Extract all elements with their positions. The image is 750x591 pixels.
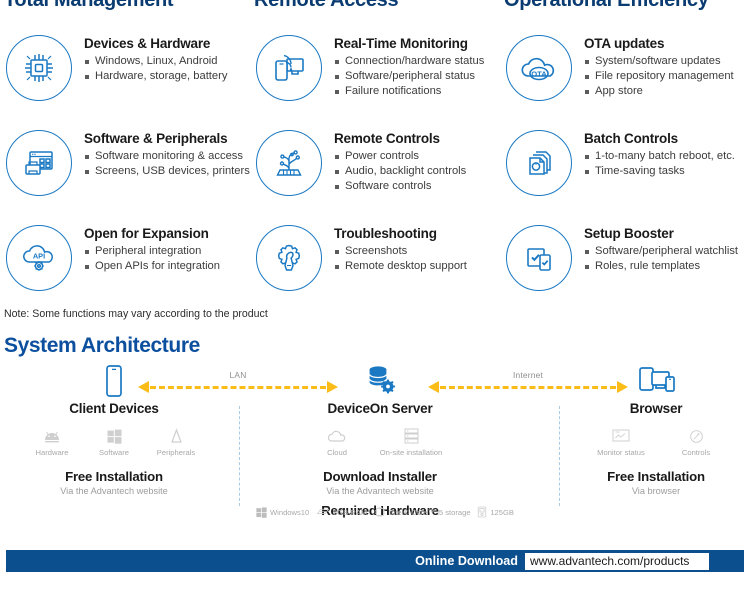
node-label: Browser bbox=[562, 401, 750, 416]
troubleshooting-gear-wrench-icon bbox=[256, 225, 322, 291]
browser-install-block: Free Installation Via browser bbox=[562, 469, 750, 496]
subicon-software: Software bbox=[83, 427, 145, 457]
block-subtitle: Via the Advantech website bbox=[275, 486, 485, 496]
node-client-devices: Client Devices Hardware bbox=[14, 362, 214, 496]
feature-bullet: System/software updates bbox=[584, 54, 734, 69]
real-time-monitoring-icon bbox=[256, 35, 322, 101]
subicon-controls: Controls bbox=[661, 427, 731, 457]
controls-icon bbox=[661, 427, 731, 445]
feature-card-setup-booster: Setup Booster Software/peripheral watchl… bbox=[500, 222, 750, 317]
feature-title: Software & Peripherals bbox=[84, 131, 250, 146]
feature-card-devices-hardware: Devices & Hardware Windows, Linux, Andro… bbox=[0, 32, 250, 127]
feature-title: Batch Controls bbox=[584, 131, 735, 146]
feature-bullets: Connection/hardware status Software/peri… bbox=[334, 54, 484, 99]
feature-title: Open for Expansion bbox=[84, 226, 220, 241]
feature-bullet: Software monitoring & access bbox=[84, 149, 250, 164]
block-subtitle: Via browser bbox=[562, 486, 750, 496]
feature-bullets: 1-to-many batch reboot, etc. Time-saving… bbox=[584, 149, 735, 179]
hardware-label: 125GB bbox=[490, 508, 514, 517]
monitor-status-icon bbox=[581, 427, 661, 445]
column-divider-left bbox=[239, 406, 240, 506]
hardware-label: Windows10 bbox=[270, 508, 309, 517]
feature-bullet: Hardware, storage, battery bbox=[84, 69, 227, 84]
feature-title: OTA updates bbox=[584, 36, 734, 51]
software-peripherals-icon bbox=[6, 130, 72, 196]
multi-device-icon bbox=[562, 362, 750, 398]
peripherals-icon bbox=[145, 427, 207, 445]
android-icon bbox=[21, 427, 83, 445]
column-heading-total-management: Total Management bbox=[4, 0, 173, 12]
batch-controls-stack-icon bbox=[506, 130, 572, 196]
feature-title: Devices & Hardware bbox=[84, 36, 227, 51]
subicon-monitor-status: Monitor status bbox=[581, 427, 661, 457]
server-subicons: Cloud On-site installation bbox=[275, 427, 485, 457]
feature-title: Setup Booster bbox=[584, 226, 738, 241]
subicon-peripherals: Peripherals bbox=[145, 427, 207, 457]
feature-bullet: Audio, backlight controls bbox=[334, 164, 466, 179]
feature-title: Troubleshooting bbox=[334, 226, 467, 241]
chip-icon bbox=[6, 35, 72, 101]
system-architecture-title: System Architecture bbox=[4, 334, 200, 358]
subicon-label: Peripherals bbox=[145, 448, 207, 457]
column-divider-right bbox=[559, 406, 560, 506]
storage-icon bbox=[477, 506, 487, 518]
api-cloud-gear-icon: API bbox=[6, 225, 72, 291]
block-subtitle: Via the Advantech website bbox=[14, 486, 214, 496]
setup-booster-check-icon bbox=[506, 225, 572, 291]
feature-card-troubleshooting: Troubleshooting Screenshots Remote deskt… bbox=[250, 222, 500, 317]
column-heading-remote-access: Remote Access bbox=[254, 0, 398, 12]
feature-bullet: Open APIs for integration bbox=[84, 259, 220, 274]
feature-bullet: Time-saving tasks bbox=[584, 164, 735, 179]
cloud-icon bbox=[306, 427, 368, 445]
subicon-hardware: Hardware bbox=[21, 427, 83, 457]
feature-bullets: System/software updates File repository … bbox=[584, 54, 734, 99]
feature-bullet: Power controls bbox=[334, 149, 466, 164]
server-install-block: Download Installer Via the Advantech web… bbox=[275, 469, 485, 496]
feature-bullet: 1-to-many batch reboot, etc. bbox=[584, 149, 735, 164]
feature-bullets: Windows, Linux, Android Hardware, storag… bbox=[84, 54, 227, 84]
feature-bullet: Remote desktop support bbox=[334, 259, 467, 274]
subicon-cloud: Cloud bbox=[306, 427, 368, 457]
ota-cloud-icon: OTA bbox=[506, 35, 572, 101]
feature-card-real-time-monitoring: Real-Time Monitoring Connection/hardware… bbox=[250, 32, 500, 127]
subicon-label: Cloud bbox=[306, 448, 368, 457]
footer-bar: Online Download www.advantech.com/produc… bbox=[6, 550, 744, 572]
feature-title: Real-Time Monitoring bbox=[334, 36, 484, 51]
feature-grid: Total Management Remote Access Operation… bbox=[0, 0, 750, 330]
svg-text:OTA: OTA bbox=[531, 69, 547, 78]
hardware-label: 8GB RAM bbox=[333, 508, 367, 517]
block-title: Free Installation bbox=[562, 469, 750, 484]
node-deviceon-server: DeviceOn Server Cloud bbox=[275, 362, 485, 518]
online-download-label: Online Download bbox=[415, 554, 518, 568]
feature-card-open-for-expansion: API Open for Expansion Peripheral integr… bbox=[0, 222, 250, 317]
feature-bullets: Software/peripheral watchlist Roles, rul… bbox=[584, 244, 738, 274]
feature-card-batch-controls: Batch Controls 1-to-many batch reboot, e… bbox=[500, 127, 750, 222]
client-subicons: Hardware Software bbox=[14, 427, 214, 457]
subicon-label: Monitor status bbox=[581, 448, 661, 457]
block-title: Download Installer bbox=[275, 469, 485, 484]
feature-card-software-peripherals: Software & Peripherals Software monitori… bbox=[0, 127, 250, 222]
feature-bullet: Windows, Linux, Android bbox=[84, 54, 227, 69]
feature-bullet: Roles, rule templates bbox=[584, 259, 738, 274]
hardware-item-windows: Windows10 bbox=[256, 507, 309, 518]
feature-card-remote-controls: Remote Controls Power controls Audio, ba… bbox=[250, 127, 500, 222]
feature-bullets: Power controls Audio, backlight controls… bbox=[334, 149, 466, 194]
ram-icon bbox=[316, 507, 330, 517]
hardware-requirements-row: Windows10 8GB RAM Intel® Core™ i5 storag… bbox=[256, 506, 514, 518]
subicon-label: On-site installation bbox=[368, 448, 454, 457]
database-gear-icon bbox=[275, 362, 485, 398]
node-label: Client Devices bbox=[14, 401, 214, 416]
server-rack-icon bbox=[368, 427, 454, 445]
hardware-label: Intel® Core™ i5 storage bbox=[389, 508, 471, 517]
subicon-onsite-installation: On-site installation bbox=[368, 427, 454, 457]
phone-icon bbox=[14, 362, 214, 398]
feature-bullet: Failure notifications bbox=[334, 84, 484, 99]
hardware-item-cpu: Intel® Core™ i5 storage bbox=[374, 506, 471, 518]
browser-subicons: Monitor status Controls bbox=[562, 427, 750, 457]
svg-text:API: API bbox=[33, 252, 45, 261]
feature-bullets: Screenshots Remote desktop support bbox=[334, 244, 467, 274]
subicon-label: Hardware bbox=[21, 448, 83, 457]
node-browser: Browser Monitor status bbox=[562, 362, 750, 496]
feature-title: Remote Controls bbox=[334, 131, 466, 146]
feature-card-ota-updates: OTA OTA updates System/software updates … bbox=[500, 32, 750, 127]
windows-icon bbox=[256, 507, 267, 518]
feature-bullet: App store bbox=[584, 84, 734, 99]
product-note: Note: Some functions may vary according … bbox=[4, 308, 268, 320]
cpu-icon bbox=[374, 506, 386, 518]
subicon-label: Controls bbox=[661, 448, 731, 457]
node-label: DeviceOn Server bbox=[275, 401, 485, 416]
feature-bullet: Screenshots bbox=[334, 244, 467, 259]
online-download-url[interactable]: www.advantech.com/products bbox=[525, 553, 709, 570]
feature-bullet: Screens, USB devices, printers bbox=[84, 164, 250, 179]
feature-bullets: Peripheral integration Open APIs for int… bbox=[84, 244, 220, 274]
windows-icon bbox=[83, 427, 145, 445]
architecture-diagram: LAN Internet Client Devices bbox=[0, 360, 750, 540]
feature-bullet: Peripheral integration bbox=[84, 244, 220, 259]
feature-bullet: Software controls bbox=[334, 179, 466, 194]
remote-controls-circuit-icon bbox=[256, 130, 322, 196]
hardware-item-storage: 125GB bbox=[477, 506, 514, 518]
column-heading-operational-efficiency: Operational Efficiency bbox=[504, 0, 709, 12]
client-install-block: Free Installation Via the Advantech webs… bbox=[14, 469, 214, 496]
feature-bullet: Software/peripheral status bbox=[334, 69, 484, 84]
feature-bullet: File repository management bbox=[584, 69, 734, 84]
feature-bullet: Software/peripheral watchlist bbox=[584, 244, 738, 259]
subicon-label: Software bbox=[83, 448, 145, 457]
hardware-item-ram: 8GB RAM bbox=[316, 507, 367, 517]
feature-bullets: Software monitoring & access Screens, US… bbox=[84, 149, 250, 179]
feature-bullet: Connection/hardware status bbox=[334, 54, 484, 69]
block-title: Free Installation bbox=[14, 469, 214, 484]
